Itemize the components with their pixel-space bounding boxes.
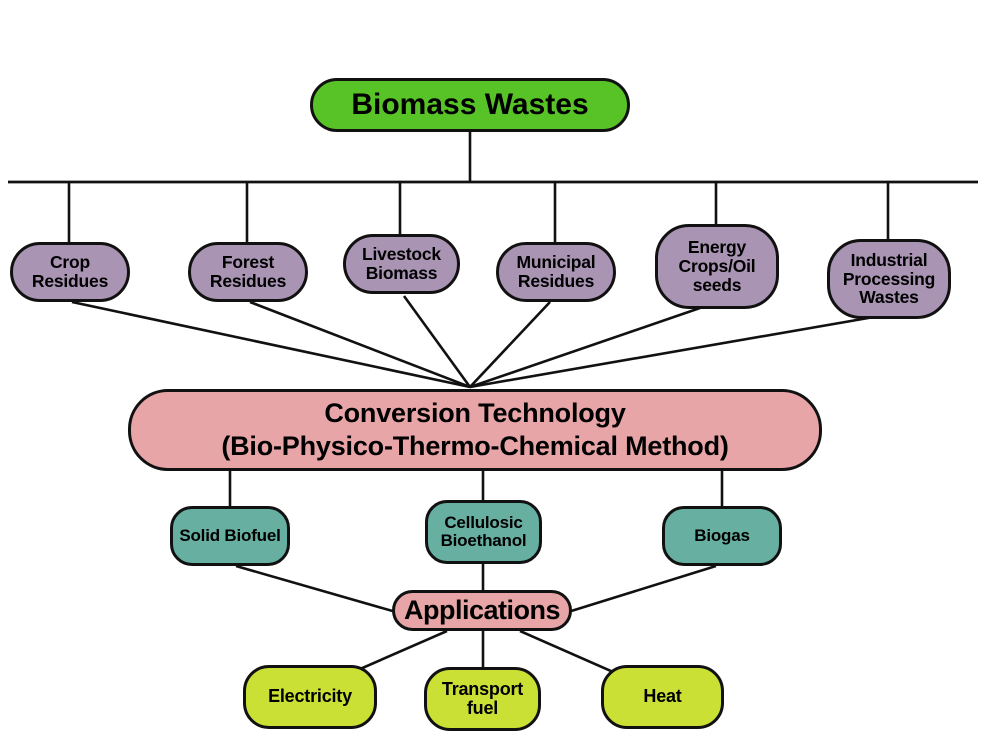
connector-solid-biofuel-to-applications [236, 566, 396, 612]
node-municipal-residues[interactable]: Municipal Residues [496, 242, 616, 302]
node-transport-fuel[interactable]: Transport fuel [424, 667, 541, 731]
node-livestock-biomass-label: Livestock Biomass [362, 245, 441, 283]
node-crop-residues[interactable]: Crop Residues [10, 242, 130, 302]
node-applications[interactable]: Applications [392, 590, 572, 631]
diagram-canvas: Biomass Wastes Crop Residues Forest Resi… [0, 0, 986, 740]
node-livestock-biomass[interactable]: Livestock Biomass [343, 234, 460, 294]
node-cellulosic-bioethanol[interactable]: Cellulosic Bioethanol [425, 500, 542, 564]
node-biogas[interactable]: Biogas [662, 506, 782, 566]
node-energy-crops-oil-seeds-label: Energy Crops/Oil seeds [679, 238, 756, 295]
node-applications-label: Applications [404, 596, 560, 625]
connector-livestock-biomass-to-conversion [404, 296, 470, 387]
node-conversion-technology-line1: Conversion Technology [324, 397, 625, 430]
node-biomass-wastes[interactable]: Biomass Wastes [310, 78, 630, 132]
node-industrial-processing-wastes[interactable]: Industrial Processing Wastes [827, 239, 951, 319]
node-industrial-processing-wastes-label: Industrial Processing Wastes [843, 251, 935, 308]
node-crop-residues-label: Crop Residues [32, 253, 108, 291]
connector-energy-crops-to-conversion [470, 308, 700, 387]
node-conversion-technology-line2: (Bio-Physico-Thermo-Chemical Method) [221, 430, 728, 463]
node-biomass-wastes-label: Biomass Wastes [351, 89, 588, 121]
node-heat[interactable]: Heat [601, 665, 724, 729]
node-forest-residues-label: Forest Residues [210, 253, 286, 291]
connector-biogas-to-applications [568, 566, 716, 612]
node-energy-crops-oil-seeds[interactable]: Energy Crops/Oil seeds [655, 224, 779, 309]
node-conversion-technology[interactable]: Conversion Technology (Bio-Physico-Therm… [128, 389, 822, 471]
connector-municipal-residues-to-conversion [470, 302, 550, 387]
connector-industrial-wastes-to-conversion [470, 317, 874, 387]
node-municipal-residues-label: Municipal Residues [517, 253, 596, 291]
node-forest-residues[interactable]: Forest Residues [188, 242, 308, 302]
node-electricity-label: Electricity [268, 687, 352, 706]
node-transport-fuel-label: Transport fuel [442, 680, 523, 719]
connector-crop-residues-to-conversion [72, 302, 470, 387]
node-solid-biofuel[interactable]: Solid Biofuel [170, 506, 290, 566]
node-solid-biofuel-label: Solid Biofuel [179, 527, 280, 545]
node-heat-label: Heat [643, 687, 681, 706]
connector-forest-residues-to-conversion [250, 302, 470, 387]
node-biogas-label: Biogas [694, 527, 749, 545]
node-electricity[interactable]: Electricity [243, 665, 377, 729]
node-cellulosic-bioethanol-label: Cellulosic Bioethanol [441, 514, 527, 551]
